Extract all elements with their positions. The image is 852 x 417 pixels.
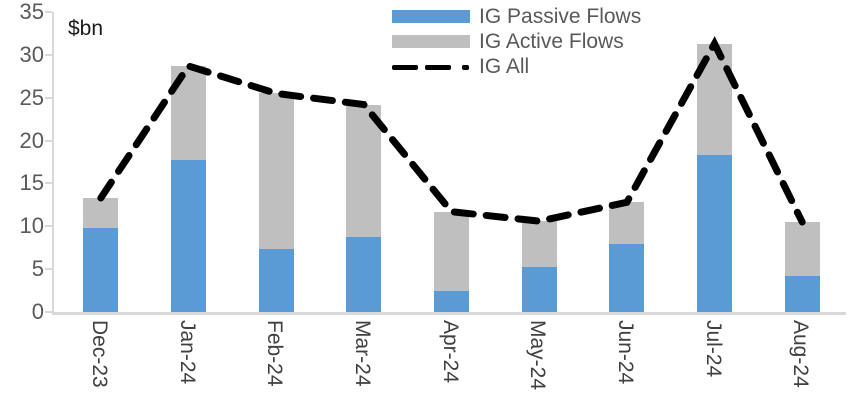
x-axis-tick-label: May-24 <box>527 320 548 390</box>
y-axis-tick-label: 15 <box>4 172 44 194</box>
y-axis-tick-label: 25 <box>4 87 44 109</box>
x-axis-tick-label: Aug-24 <box>790 320 811 388</box>
y-axis-line <box>52 12 54 312</box>
x-axis-tick-label: Mar-24 <box>352 320 373 387</box>
y-axis-tick-mark <box>45 11 52 13</box>
y-axis-tick-label: 10 <box>4 215 44 237</box>
x-axis-line <box>52 312 846 315</box>
y-axis-tick-label: 35 <box>4 1 44 23</box>
x-axis-tick-label: Jun-24 <box>615 320 636 384</box>
y-axis-tick-mark <box>45 268 52 270</box>
flows-chart: 05101520253035 $bn Dec-23Jan-24Feb-24Mar… <box>0 0 852 417</box>
x-axis-tick-label: Feb-24 <box>264 320 285 387</box>
x-axis-tick-label: Apr-24 <box>440 320 461 383</box>
y-axis-tick-mark <box>45 225 52 227</box>
legend-color-swatch <box>392 10 470 23</box>
y-axis: 05101520253035 <box>0 0 44 417</box>
chart-legend: IG Passive FlowsIG Active FlowsIG All <box>392 4 692 79</box>
x-axis-tick-label: Jul-24 <box>703 320 724 377</box>
y-axis-tick-mark <box>45 54 52 56</box>
y-axis-tick-label: 0 <box>4 301 44 323</box>
legend-item-label: IG All <box>479 56 529 77</box>
legend-item-label: IG Active Flows <box>479 31 624 52</box>
legend-item[interactable]: IG All <box>392 54 692 79</box>
y-axis-tick-mark <box>45 140 52 142</box>
legend-item-label: IG Passive Flows <box>479 6 641 27</box>
x-axis-tick-label: Jan-24 <box>177 320 198 384</box>
legend-item[interactable]: IG Passive Flows <box>392 4 692 29</box>
y-axis-tick-label: 30 <box>4 44 44 66</box>
y-axis-tick-label: 20 <box>4 130 44 152</box>
y-axis-tick-mark <box>45 311 52 313</box>
y-axis-tick-mark <box>45 97 52 99</box>
legend-color-swatch <box>392 35 470 48</box>
x-axis-tick-label: Dec-23 <box>89 320 110 388</box>
legend-item[interactable]: IG Active Flows <box>392 29 692 54</box>
y-axis-tick-label: 5 <box>4 258 44 280</box>
y-axis-tick-mark <box>45 182 52 184</box>
legend-dashed-line-icon <box>392 60 470 73</box>
